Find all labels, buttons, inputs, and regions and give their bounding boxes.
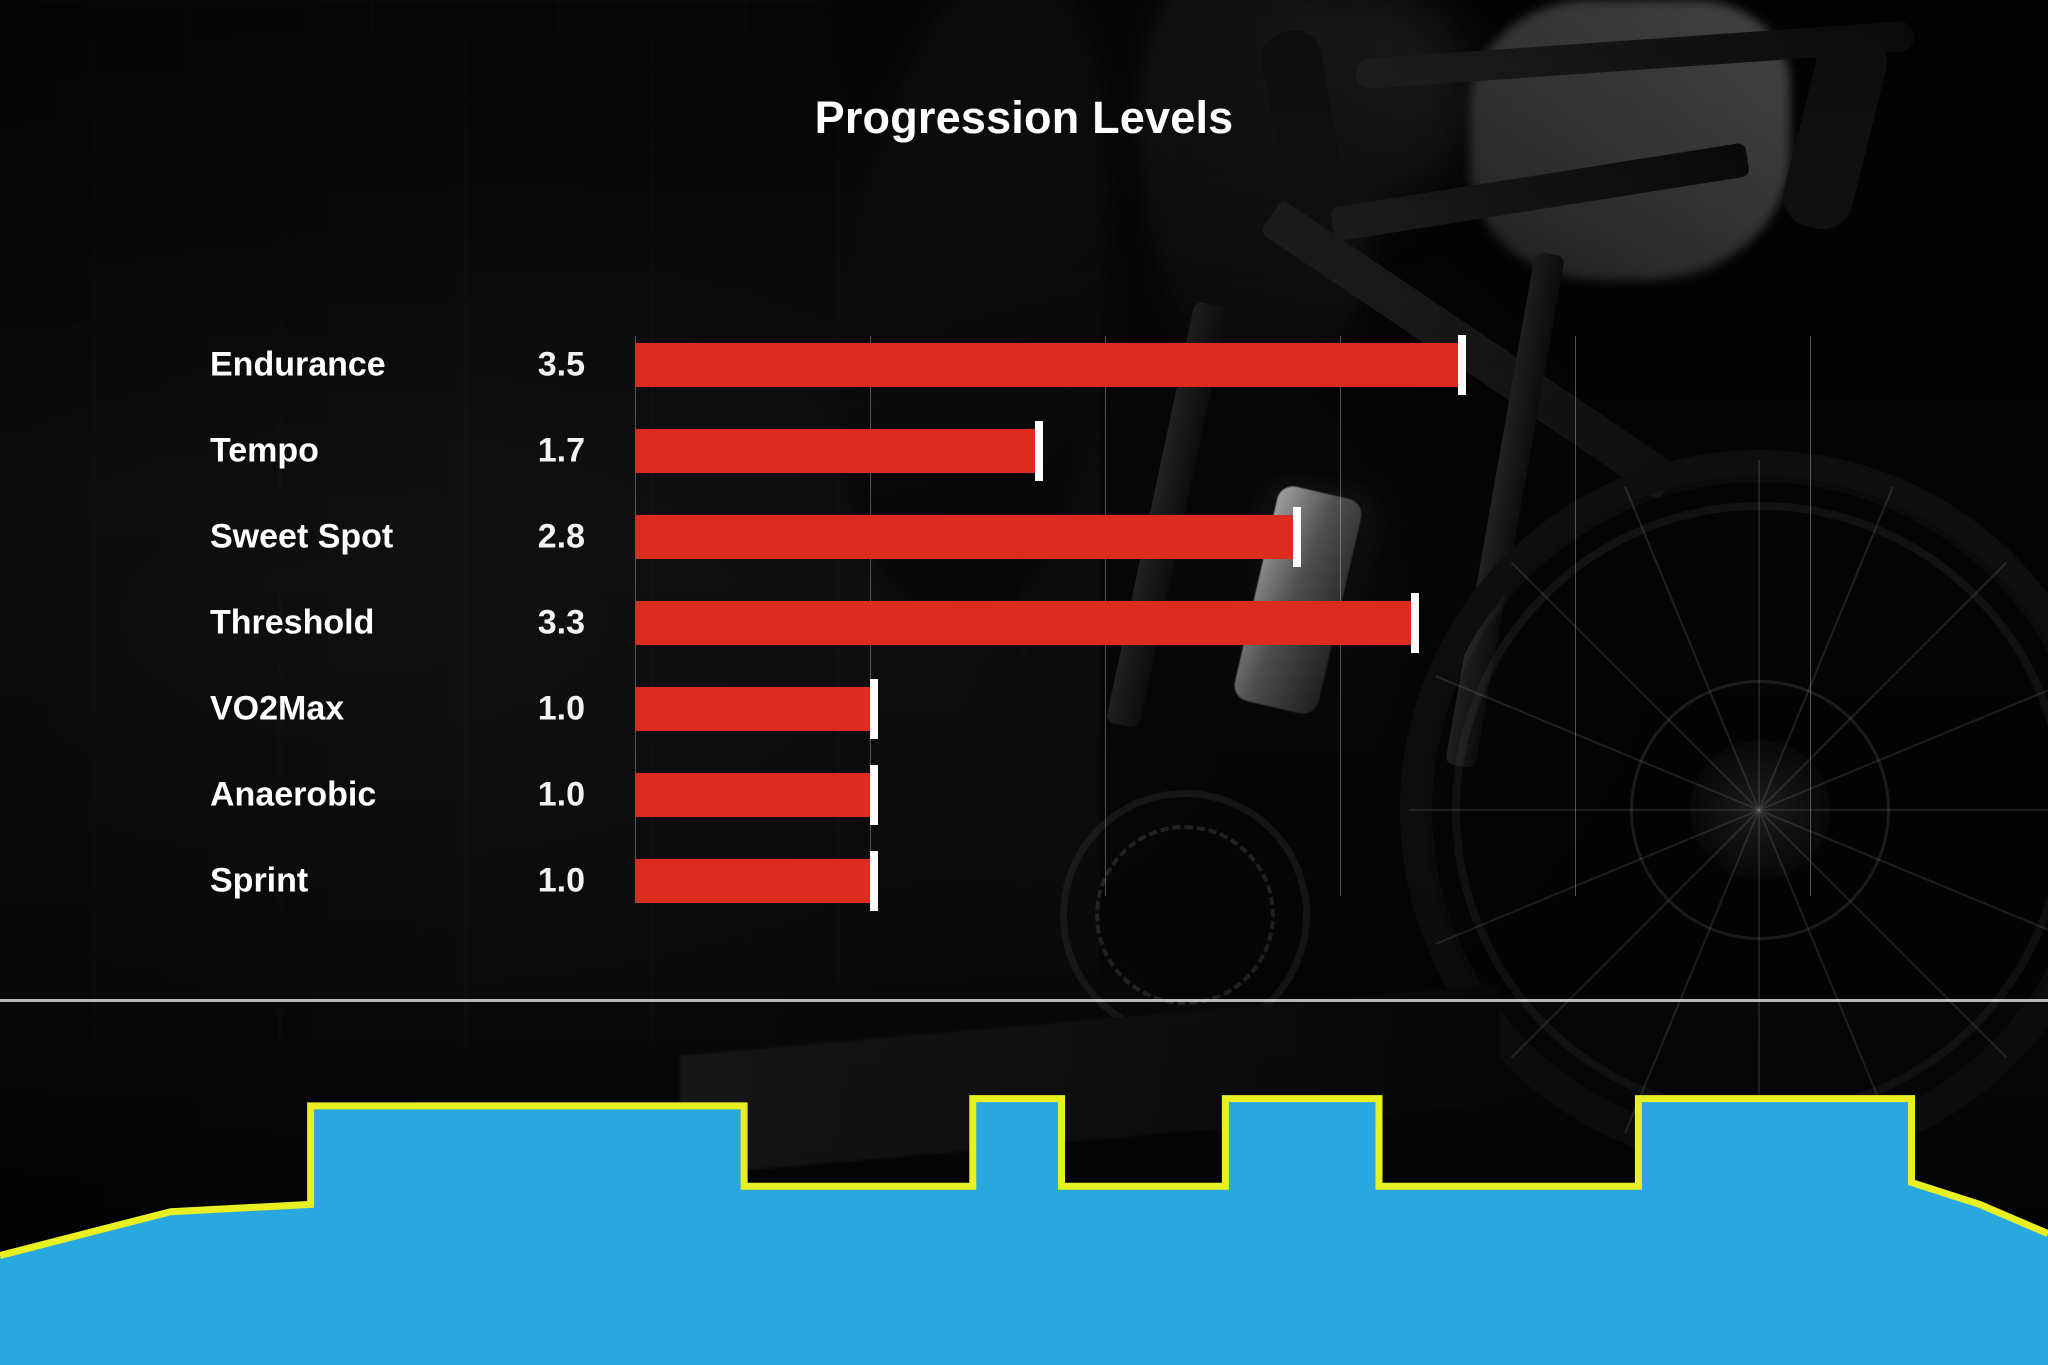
category-label: Tempo <box>210 432 319 471</box>
bar-end-marker <box>1411 593 1419 653</box>
category-value: 1.7 <box>440 432 585 471</box>
chart-row: Threshold3.3 <box>0 601 2048 645</box>
page-title: Progression Levels <box>0 92 2048 144</box>
category-label: Sprint <box>210 862 308 901</box>
category-value: 3.5 <box>440 346 585 385</box>
category-label: Endurance <box>210 346 386 385</box>
chart-row: Endurance3.5 <box>0 343 2048 387</box>
category-value: 2.8 <box>440 518 585 557</box>
level-bar[interactable] <box>635 859 870 903</box>
bar-end-marker <box>870 765 878 825</box>
bar-end-marker <box>870 679 878 739</box>
chart-row: Sprint1.0 <box>0 859 2048 903</box>
category-value: 1.0 <box>440 776 585 815</box>
level-bar[interactable] <box>635 343 1458 387</box>
bar-end-marker <box>1458 335 1466 395</box>
level-bar[interactable] <box>635 601 1411 645</box>
category-label: VO2Max <box>210 690 344 729</box>
chart-row: Tempo1.7 <box>0 429 2048 473</box>
bar-end-marker <box>870 851 878 911</box>
bar-end-marker <box>1035 421 1043 481</box>
chart-row: Sweet Spot2.8 <box>0 515 2048 559</box>
level-bar[interactable] <box>635 773 870 817</box>
level-bar[interactable] <box>635 687 870 731</box>
chart-row: Anaerobic1.0 <box>0 773 2048 817</box>
level-bar[interactable] <box>635 429 1035 473</box>
category-value: 1.0 <box>440 690 585 729</box>
category-value: 1.0 <box>440 862 585 901</box>
chart-row: VO2Max1.0 <box>0 687 2048 731</box>
progression-levels-screen: Progression Levels Endurance3.5Tempo1.7S… <box>0 0 2048 1365</box>
category-label: Anaerobic <box>210 776 376 815</box>
level-bar[interactable] <box>635 515 1293 559</box>
bar-end-marker <box>1293 507 1301 567</box>
workout-profile-graph <box>0 1000 2048 1365</box>
workout-profile-svg <box>0 1000 2048 1365</box>
category-value: 3.3 <box>440 604 585 643</box>
category-label: Threshold <box>210 604 374 643</box>
category-label: Sweet Spot <box>210 518 393 557</box>
